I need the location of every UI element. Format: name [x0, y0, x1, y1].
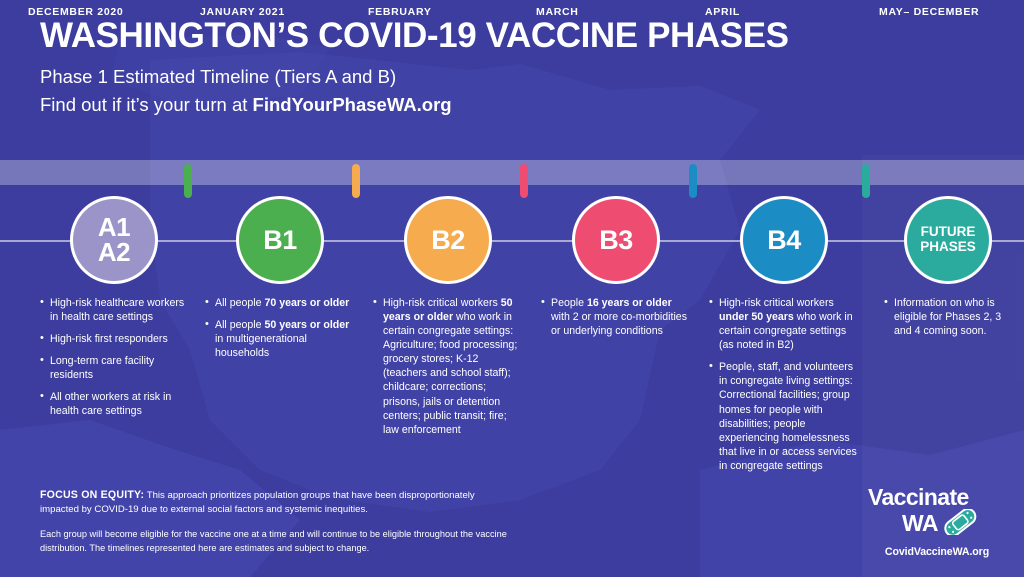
bullet-text-pre: People	[551, 297, 587, 309]
phase-bubble-b2[interactable]: B2	[404, 196, 492, 284]
phase-bullet-item: All other workers at risk in health care…	[40, 390, 188, 418]
phase-bubble-label-b2: B2	[431, 227, 465, 253]
logo-line-wa-row: WA	[868, 509, 1012, 539]
month-label-2: FEBRUARY	[368, 0, 432, 25]
find-your-phase-link[interactable]: FindYourPhaseWA.org	[253, 94, 452, 115]
timeline-tick-4	[689, 164, 697, 198]
phase-label-line: B4	[767, 227, 801, 253]
phase-label-line: B3	[599, 227, 633, 253]
bullet-text-post: in multigenerational households	[215, 333, 307, 359]
page-title: WASHINGTON’S COVID-19 VACCINE PHASES	[40, 18, 940, 55]
page-subtitle: Phase 1 Estimated Timeline (Tiers A and …	[40, 66, 940, 87]
phase-label-line: PHASES	[920, 240, 976, 255]
bullet-text-pre: All people	[215, 319, 264, 331]
phase-bullet-item: People, staff, and volunteers in congreg…	[709, 360, 859, 473]
bandage-icon	[942, 509, 978, 539]
bullet-text-post: who work in certain congregate settings:…	[383, 311, 517, 436]
phase-bullet-list-b1: All people 70 years or olderAll people 5…	[205, 296, 355, 360]
timeline-tick-2	[352, 164, 360, 198]
phase-bubble-b4[interactable]: B4	[740, 196, 828, 284]
phase-bullet-list-b3: People 16 years or older with 2 or more …	[541, 296, 691, 338]
phase-bubble-label-a1-a2: A1A2	[98, 215, 130, 266]
vaccinate-wa-logo: Vaccinate WA	[862, 487, 1012, 558]
bullet-text-emphasis: 16 years or older	[587, 297, 672, 309]
timeline-tick-1	[184, 164, 192, 198]
phase-bubble-a1-a2[interactable]: A1A2	[70, 196, 158, 284]
month-label-1: JANUARY 2021	[200, 0, 285, 25]
bullet-text-pre: All people	[215, 297, 264, 309]
phase-column-b3: B3People 16 years or older with 2 or mor…	[541, 196, 691, 346]
logo-wordmark: Vaccinate WA	[862, 487, 1012, 539]
bullet-text-pre: High-risk critical workers	[383, 297, 501, 309]
phase-bubble-label-b3: B3	[599, 227, 633, 253]
phase-bubble-label-future-phases: FUTUREPHASES	[920, 225, 976, 254]
logo-line-vaccinate: Vaccinate	[868, 487, 1012, 509]
phase-bullet-item: Information on who is eligible for Phase…	[884, 296, 1012, 338]
phase-label-line: B2	[431, 227, 465, 253]
phase-column-future-phases: FUTUREPHASESInformation on who is eligib…	[884, 196, 1012, 346]
logo-url[interactable]: CovidVaccineWA.org	[862, 546, 1012, 558]
phase-column-a1-a2: A1A2High-risk healthcare workers in heal…	[40, 196, 188, 427]
phase-bullet-list-b2: High-risk critical workers 50 years or o…	[373, 296, 523, 437]
phase-column-b1: B1All people 70 years or olderAll people…	[205, 196, 355, 368]
phase-column-b4: B4High-risk critical workers under 50 ye…	[709, 196, 859, 481]
phase-label-line: FUTURE	[920, 225, 976, 240]
infographic-canvas: WASHINGTON’S COVID-19 VACCINE PHASES Pha…	[0, 0, 1024, 577]
phase-bubble-b1[interactable]: B1	[236, 196, 324, 284]
phase-bullet-item: All people 70 years or older	[205, 296, 355, 310]
phase-column-b2: B2High-risk critical workers 50 years or…	[373, 196, 523, 445]
bullet-text-post: with 2 or more co-morbidities or underly…	[551, 311, 687, 337]
phase-label-line: A2	[98, 240, 130, 265]
bullet-text-emphasis: 50 years or older	[264, 319, 349, 331]
phase-bullet-item: High-risk critical workers under 50 year…	[709, 296, 859, 352]
phase-bullet-list-a1-a2: High-risk healthcare workers in health c…	[40, 296, 188, 419]
timeline-month-band	[0, 160, 1024, 185]
phase-label-line: B1	[263, 227, 297, 253]
focus-on-equity-statement: FOCUS ON EQUITY: This approach prioritiz…	[40, 488, 510, 517]
timeline-tick-5	[862, 164, 870, 198]
phase-bullet-item: High-risk first responders	[40, 332, 188, 346]
phase-bullet-item: People 16 years or older with 2 or more …	[541, 296, 691, 338]
timeline-tick-3	[520, 164, 528, 198]
phase-bullet-item: High-risk critical workers 50 years or o…	[373, 296, 523, 437]
month-label-3: MARCH	[536, 0, 579, 25]
footer: FOCUS ON EQUITY: This approach prioritiz…	[40, 488, 510, 556]
focus-on-equity-lead: FOCUS ON EQUITY:	[40, 489, 144, 501]
month-label-5: MAY– DECEMBER	[879, 0, 979, 25]
phase-bullet-item: Long-term care facility residents	[40, 354, 188, 382]
phase-bubble-label-b1: B1	[263, 227, 297, 253]
timeline-disclaimer-note: Each group will become eligible for the …	[40, 528, 510, 556]
bullet-text-emphasis: 70 years or older	[264, 297, 349, 309]
phase-bubble-future-phases[interactable]: FUTUREPHASES	[904, 196, 992, 284]
phase-bullet-item: High-risk healthcare workers in health c…	[40, 296, 188, 324]
logo-line-wa: WA	[902, 513, 938, 535]
month-label-4: APRIL	[705, 0, 740, 25]
phase-bullet-item: All people 50 years or older in multigen…	[205, 318, 355, 360]
find-prefix-text: Find out if it’s your turn at	[40, 94, 253, 115]
find-your-phase-line: Find out if it’s your turn at FindYourPh…	[40, 94, 940, 115]
bullet-text-emphasis: under 50 years	[719, 311, 794, 323]
month-label-0: DECEMBER 2020	[28, 0, 123, 25]
content-layer: WASHINGTON’S COVID-19 VACCINE PHASES Pha…	[0, 0, 1024, 577]
bullet-text-pre: High-risk critical workers	[719, 297, 834, 309]
phase-bullet-list-future-phases: Information on who is eligible for Phase…	[884, 296, 1012, 338]
phase-bullet-list-b4: High-risk critical workers under 50 year…	[709, 296, 859, 473]
phase-bubble-b3[interactable]: B3	[572, 196, 660, 284]
phase-bubble-label-b4: B4	[767, 227, 801, 253]
header: WASHINGTON’S COVID-19 VACCINE PHASES Pha…	[40, 18, 940, 115]
